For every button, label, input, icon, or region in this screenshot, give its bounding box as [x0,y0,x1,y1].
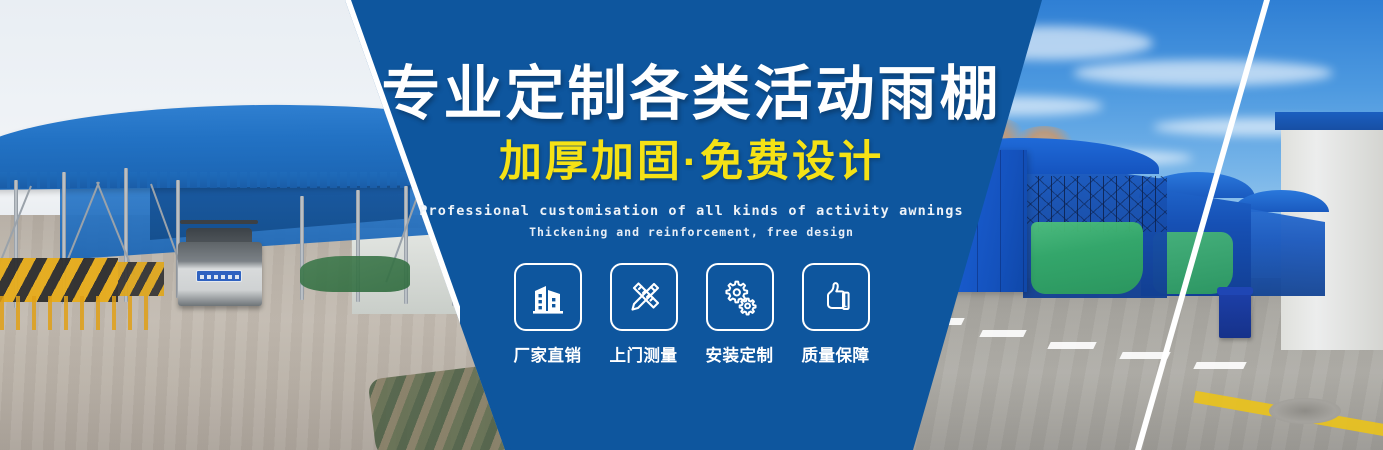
promo-banner: 专业定制各类活动雨棚 加厚加固·免费设计 Professional custom… [0,0,1383,450]
english-tagline-secondary: Thickening and reinforcement, free desig… [529,225,854,239]
english-tagline-primary: Professional customisation of all kinds … [419,203,963,219]
feature-label: 质量保障 [802,342,870,366]
feature-item-factory-direct[interactable]: 厂家直销 [514,263,582,366]
gears-icon [706,263,774,331]
feature-item-onsite-measure[interactable]: 上门测量 [610,263,678,366]
factory-building-icon [514,263,582,331]
banner-content: 专业定制各类活动雨棚 加厚加固·免费设计 Professional custom… [0,0,1383,450]
thumbs-up-icon [802,263,870,331]
headline: 专业定制各类活动雨棚 [381,64,1001,126]
feature-label: 上门测量 [610,342,678,366]
ruler-pencil-icon [610,263,678,331]
feature-label: 安装定制 [706,342,774,366]
sub-headline: 加厚加固·免费设计 [499,140,884,185]
feature-item-install-custom[interactable]: 安装定制 [706,263,774,366]
feature-label: 厂家直销 [514,342,582,366]
feature-list: 厂家直销 上门测量 [514,263,870,366]
feature-item-quality-guarantee[interactable]: 质量保障 [802,263,870,366]
